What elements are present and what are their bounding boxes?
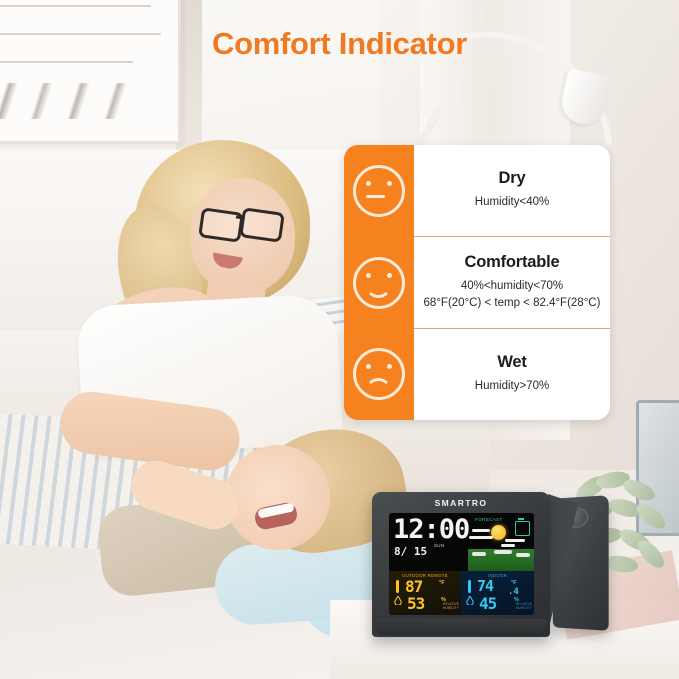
icon-cell-wet bbox=[344, 328, 414, 420]
mouth-smile bbox=[365, 280, 392, 298]
device-brand-label: SMARTRO bbox=[372, 498, 550, 508]
neutral-face-icon bbox=[353, 165, 405, 217]
eye-left bbox=[366, 364, 371, 369]
lcd-bottom-section: OUTDOOR REMOTE 87 °F 53 % RELATIVEHUMIDI… bbox=[389, 571, 534, 615]
icon-cell-dry bbox=[344, 145, 414, 237]
sad-face-icon bbox=[353, 348, 405, 400]
humidity-drop-icon bbox=[394, 596, 402, 605]
weather-station-device: SMARTRO 12:00 8/ 15 SUN FORECAST bbox=[372, 492, 550, 637]
lcd-top-section: 12:00 8/ 15 SUN FORECAST bbox=[389, 513, 534, 571]
outdoor-header: OUTDOOR REMOTE bbox=[389, 573, 461, 578]
eye-left bbox=[366, 273, 371, 278]
indoor-header: INDOOR bbox=[461, 573, 534, 578]
humidity-drop-icon bbox=[466, 596, 474, 605]
outdoor-humidity-caption: RELATIVEHUMIDITY bbox=[443, 602, 459, 610]
row-title: Comfortable bbox=[465, 253, 560, 272]
thermometer-icon bbox=[396, 580, 399, 593]
forecast-label: FORECAST bbox=[475, 517, 503, 522]
thermometer-icon bbox=[468, 580, 471, 593]
indoor-panel: INDOOR 74 .4 °F 45 % RELATIVEHUMIDITY bbox=[461, 571, 534, 615]
battery-tip-icon bbox=[518, 518, 524, 520]
icon-cell-comfortable bbox=[344, 237, 414, 329]
framed-wall-art bbox=[0, 0, 181, 144]
outdoor-temperature-value: 87 bbox=[405, 579, 422, 595]
smiling-face-icon bbox=[353, 257, 405, 309]
eye-left bbox=[366, 181, 371, 186]
row-condition: Humidity>70% bbox=[475, 378, 549, 395]
eyeglasses-lens-right bbox=[239, 207, 285, 243]
device-base bbox=[376, 619, 546, 635]
quote-line bbox=[0, 5, 151, 7]
comfort-indicator-table: Dry Humidity<40% Comfortable 40%<humidit… bbox=[344, 145, 610, 420]
indoor-humidity-caption: RELATIVEHUMIDITY bbox=[516, 602, 532, 610]
date-readout: 8/ 15 bbox=[394, 546, 427, 557]
cloud-icon bbox=[469, 536, 493, 539]
comfort-row-comfortable: Comfortable 40%<humidity<70% 68°F(20°C) … bbox=[414, 236, 610, 328]
row-title: Dry bbox=[499, 169, 526, 188]
cloud-icon bbox=[472, 552, 486, 556]
indoor-temperature-decimal: .4 bbox=[508, 587, 519, 597]
row-title: Wet bbox=[497, 353, 526, 372]
comfort-row-dry: Dry Humidity<40% bbox=[414, 145, 610, 236]
comfort-row-wet: Wet Humidity>70% bbox=[414, 328, 610, 420]
eye-right bbox=[387, 181, 392, 186]
cloud-icon bbox=[505, 539, 525, 542]
comfort-text-column: Dry Humidity<40% Comfortable 40%<humidit… bbox=[414, 145, 610, 420]
outdoor-panel: OUTDOOR REMOTE 87 °F 53 % RELATIVEHUMIDI… bbox=[389, 571, 461, 615]
eye-right bbox=[387, 273, 392, 278]
outdoor-temperature-unit: °F bbox=[439, 580, 445, 586]
product-marketing-image: Comfort Indicator bbox=[0, 0, 679, 679]
row-condition: Humidity<40% bbox=[475, 194, 549, 211]
outdoor-humidity-value: 53 bbox=[407, 596, 424, 612]
mouth-frown bbox=[365, 378, 392, 396]
mouth-neutral bbox=[366, 195, 385, 199]
indoor-temperature-value: 74 bbox=[477, 579, 493, 594]
device-lcd-screen: 12:00 8/ 15 SUN FORECAST O bbox=[389, 513, 534, 615]
landscape-graphic bbox=[468, 549, 534, 571]
device-side-profile bbox=[548, 494, 578, 632]
indoor-temperature-unit: °F bbox=[511, 580, 517, 586]
signature-script bbox=[0, 83, 160, 119]
page-title: Comfort Indicator bbox=[0, 26, 679, 62]
cloud-icon bbox=[472, 529, 490, 532]
eyeglasses-lens-left bbox=[198, 207, 244, 243]
row-condition: 68°F(20°C) < temp < 82.4°F(28°C) bbox=[424, 295, 601, 312]
leaf bbox=[634, 536, 669, 572]
indoor-humidity-value: 45 bbox=[479, 596, 496, 612]
signal-battery-icon bbox=[515, 521, 530, 536]
weekday-readout: SUN bbox=[434, 543, 444, 548]
leaf bbox=[633, 499, 669, 533]
sun-icon bbox=[491, 525, 506, 540]
cloud-icon bbox=[494, 550, 512, 554]
clock-readout: 12:00 bbox=[393, 516, 469, 543]
row-condition: 40%<humidity<70% bbox=[461, 278, 563, 295]
cloud-icon bbox=[501, 544, 515, 547]
cloud-icon bbox=[516, 553, 530, 557]
comfort-icon-column bbox=[344, 145, 414, 420]
eye-right bbox=[387, 364, 392, 369]
